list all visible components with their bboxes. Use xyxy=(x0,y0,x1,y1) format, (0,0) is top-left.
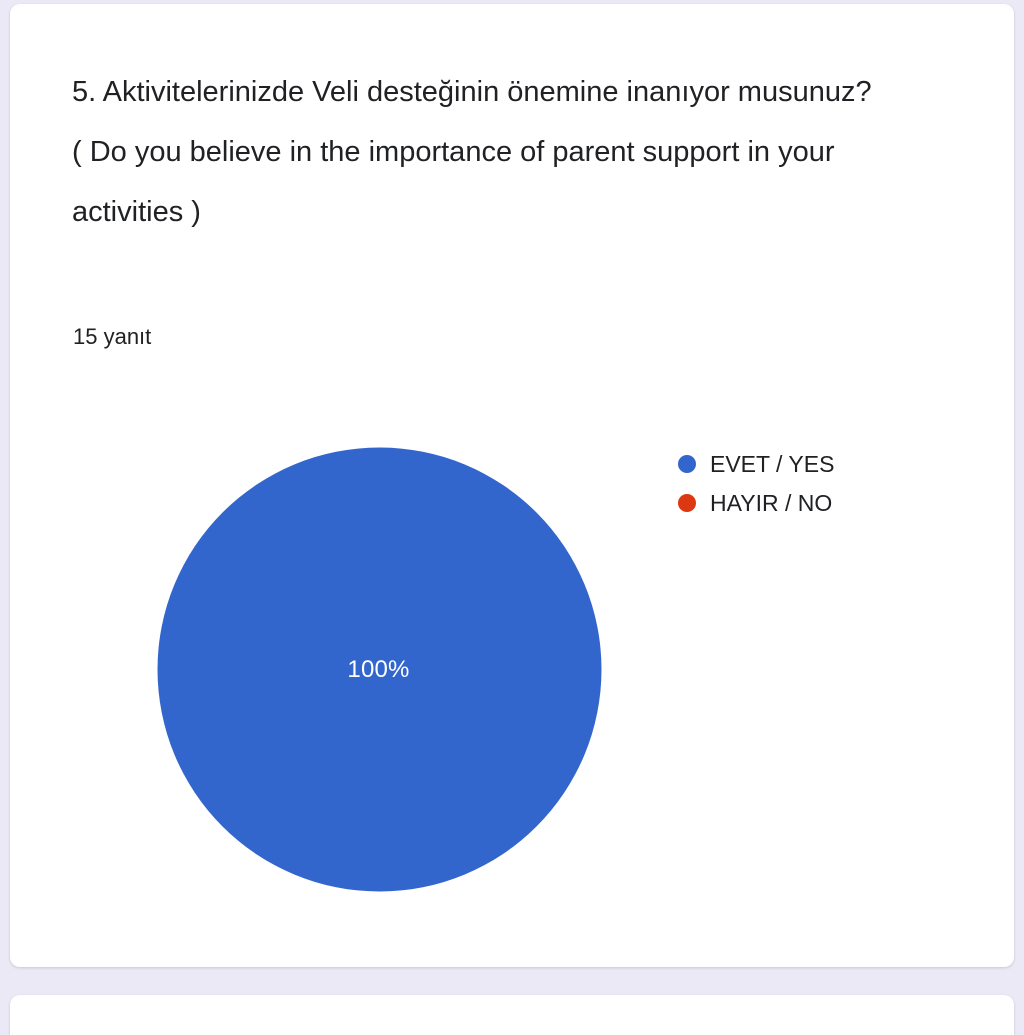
pie-chart: 100% EVET / YES HAYIR / NO xyxy=(10,384,1014,944)
legend-color-dot-icon-evet xyxy=(678,455,696,473)
response-count-label: 15 yanıt xyxy=(73,322,151,352)
question-title: 5. Aktivitelerinizde Veli desteğinin öne… xyxy=(72,62,872,242)
legend-label-hayir: HAYIR / NO xyxy=(710,490,832,516)
chart-legend: EVET / YES HAYIR / NO xyxy=(678,444,978,522)
response-summary-card: 5. Aktivitelerinizde Veli desteğinin öne… xyxy=(10,4,1014,967)
legend-color-dot-icon-hayir xyxy=(678,494,696,512)
next-response-card xyxy=(10,995,1014,1035)
legend-item-evet[interactable]: EVET / YES xyxy=(678,444,978,483)
pie-chart-graphic[interactable]: 100% xyxy=(157,447,602,892)
legend-item-hayir[interactable]: HAYIR / NO xyxy=(678,483,978,522)
pie-slice-evet[interactable] xyxy=(158,448,602,892)
legend-label-evet: EVET / YES xyxy=(710,451,834,477)
pie-chart-svg xyxy=(157,447,602,892)
